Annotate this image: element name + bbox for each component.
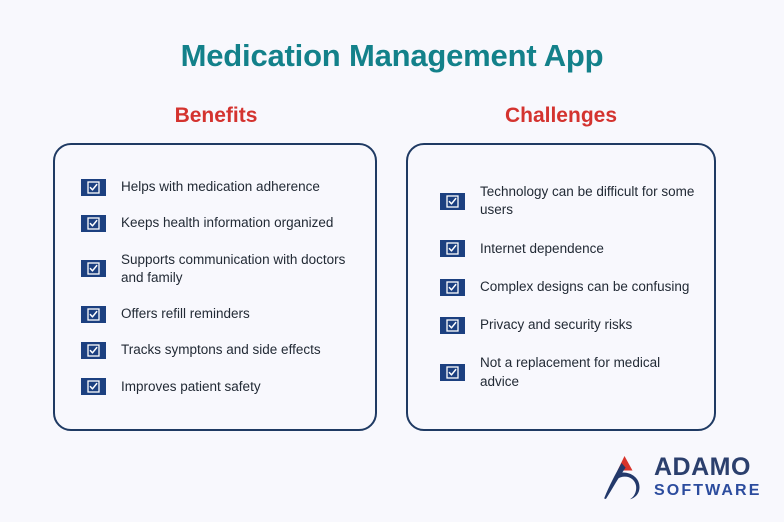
checkbox-checked-icon — [81, 306, 106, 323]
list-item: Helps with medication adherence — [81, 178, 361, 196]
logo-primary-text: ADAMO — [654, 455, 761, 480]
benefits-list: Helps with medication adherence Keeps he… — [55, 145, 375, 429]
page-title: Medication Management App — [0, 38, 784, 74]
checkbox-checked-icon — [81, 378, 106, 395]
checkbox-checked-icon — [81, 342, 106, 359]
checkbox-checked-icon — [81, 179, 106, 196]
checkbox-checked-icon — [440, 193, 465, 210]
list-item-label: Tracks symptons and side effects — [121, 341, 321, 359]
list-item-label: Offers refill reminders — [121, 305, 250, 323]
list-item: Privacy and security risks — [440, 316, 700, 334]
list-item-label: Supports communication with doctors and … — [121, 251, 361, 287]
list-item-label: Internet dependence — [480, 240, 604, 258]
list-item: Supports communication with doctors and … — [81, 251, 361, 287]
checkbox-checked-icon — [81, 215, 106, 232]
adamo-software-logo: ADAMO SOFTWARE — [601, 449, 771, 505]
list-item: Tracks symptons and side effects — [81, 341, 361, 359]
adamo-swoosh-icon — [601, 453, 647, 501]
list-item: Not a replacement for medical advice — [440, 354, 700, 390]
challenges-card: Technology can be difficult for some use… — [406, 143, 716, 431]
list-item: Technology can be difficult for some use… — [440, 183, 700, 219]
list-item-label: Keeps health information organized — [121, 214, 333, 232]
logo-secondary-text: SOFTWARE — [654, 483, 761, 499]
list-item: Offers refill reminders — [81, 305, 361, 323]
list-item: Improves patient safety — [81, 378, 361, 396]
list-item: Internet dependence — [440, 240, 700, 258]
list-item-label: Not a replacement for medical advice — [480, 354, 700, 390]
list-item-label: Technology can be difficult for some use… — [480, 183, 700, 219]
list-item: Complex designs can be confusing — [440, 278, 700, 296]
benefits-card: Helps with medication adherence Keeps he… — [53, 143, 377, 431]
checkbox-checked-icon — [81, 260, 106, 277]
checkbox-checked-icon — [440, 317, 465, 334]
list-item: Keeps health information organized — [81, 214, 361, 232]
checkbox-checked-icon — [440, 279, 465, 296]
list-item-label: Complex designs can be confusing — [480, 278, 689, 296]
challenges-list: Technology can be difficult for some use… — [408, 145, 714, 429]
list-item-label: Helps with medication adherence — [121, 178, 320, 196]
list-item-label: Improves patient safety — [121, 378, 261, 396]
logo-wordmark: ADAMO SOFTWARE — [654, 455, 761, 499]
column-heading-benefits: Benefits — [68, 104, 364, 128]
checkbox-checked-icon — [440, 240, 465, 257]
list-item-label: Privacy and security risks — [480, 316, 632, 334]
checkbox-checked-icon — [440, 364, 465, 381]
column-heading-challenges: Challenges — [406, 104, 716, 128]
